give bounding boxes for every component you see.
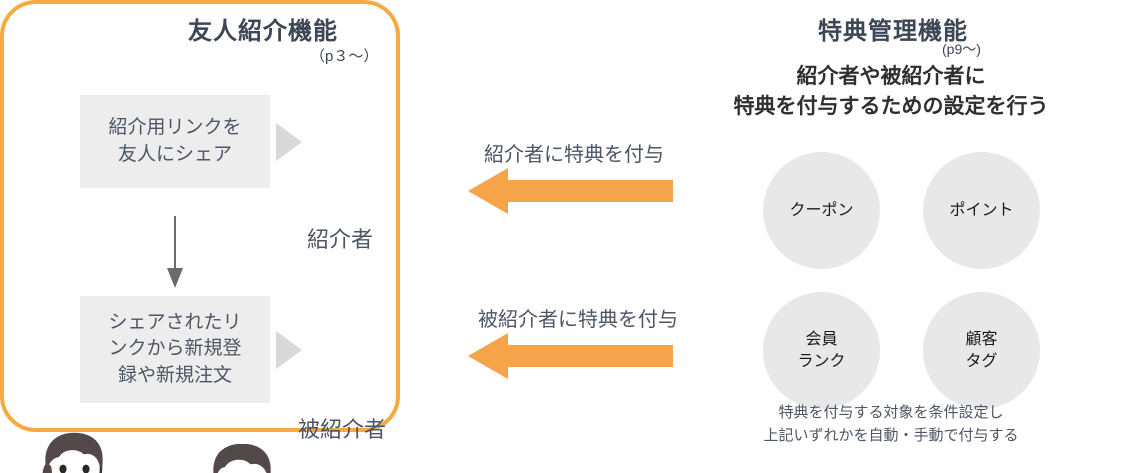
step-2-line-3: 録や新規注文 [108,363,241,389]
benefit-0-line-1: クーポン [789,200,853,222]
referrer-label: 紹介者 [307,222,373,254]
step-1-line-2: 友人にシェア [108,142,241,168]
benefit-circle-customer-tag: 顧客 タグ [923,292,1040,409]
benefit-circle-member-rank: 会員 ランク [763,292,880,409]
benefit-3-line-2: タグ [965,351,997,373]
left-arrow-icon-reward-referee [468,333,673,379]
left-panel-title: 友人紹介機能 [150,11,376,46]
right-footnote-line-1: 特典を付与する対象を条件設定し [700,402,1082,425]
benefit-2-line-1: 会員 [797,329,845,351]
right-panel-footnote: 特典を付与する対象を条件設定し 上記いずれかを自動・手動で付与する [700,402,1082,447]
benefit-3-line-1: 顧客 [965,329,997,351]
arrow-label-reward-referee: 被紹介者に特典を付与 [478,303,678,332]
right-subtitle-line-1: 紹介者や被紹介者に [700,62,1082,92]
referee-person-illustration [164,444,324,473]
step-box-signup-from-link: シェアされたリ ンクから新規登 録や新規注文 [80,296,270,403]
right-panel-subtitle: 紹介者や被紹介者に 特典を付与するための設定を行う [700,62,1082,123]
arrow-label-reward-referrer: 紹介者に特典を付与 [484,138,664,167]
referee-label: 被紹介者 [298,412,386,444]
step-2-line-1: シェアされたリ [108,310,241,336]
triangle-arrow-icon-1 [276,123,302,161]
triangle-arrow-icon-2 [276,331,302,369]
right-footnote-line-2: 上記いずれかを自動・手動で付与する [700,425,1082,448]
benefit-1-line-1: ポイント [949,200,1013,222]
benefit-circle-point: ポイント [923,152,1040,269]
step-2-line-2: ンクから新規登 [108,336,241,362]
referrer-person-illustration [0,432,160,473]
step-1-line-1: 紹介用リンクを [108,115,241,141]
benefit-2-line-2: ランク [797,351,845,373]
left-arrow-icon-reward-referrer [468,168,673,214]
benefit-circle-coupon: クーポン [763,152,880,269]
left-panel-page-reference: （p３〜） [310,45,378,66]
down-arrow-icon [162,216,188,290]
right-panel-page-reference: (p9〜) [942,39,981,59]
diagram-canvas: 友人紹介機能 （p３〜） 紹介用リンクを 友人にシェア シェアされたリ ンクから… [0,0,1144,473]
right-subtitle-line-2: 特典を付与するための設定を行う [700,92,1082,122]
step-box-share-link: 紹介用リンクを 友人にシェア [80,95,270,188]
